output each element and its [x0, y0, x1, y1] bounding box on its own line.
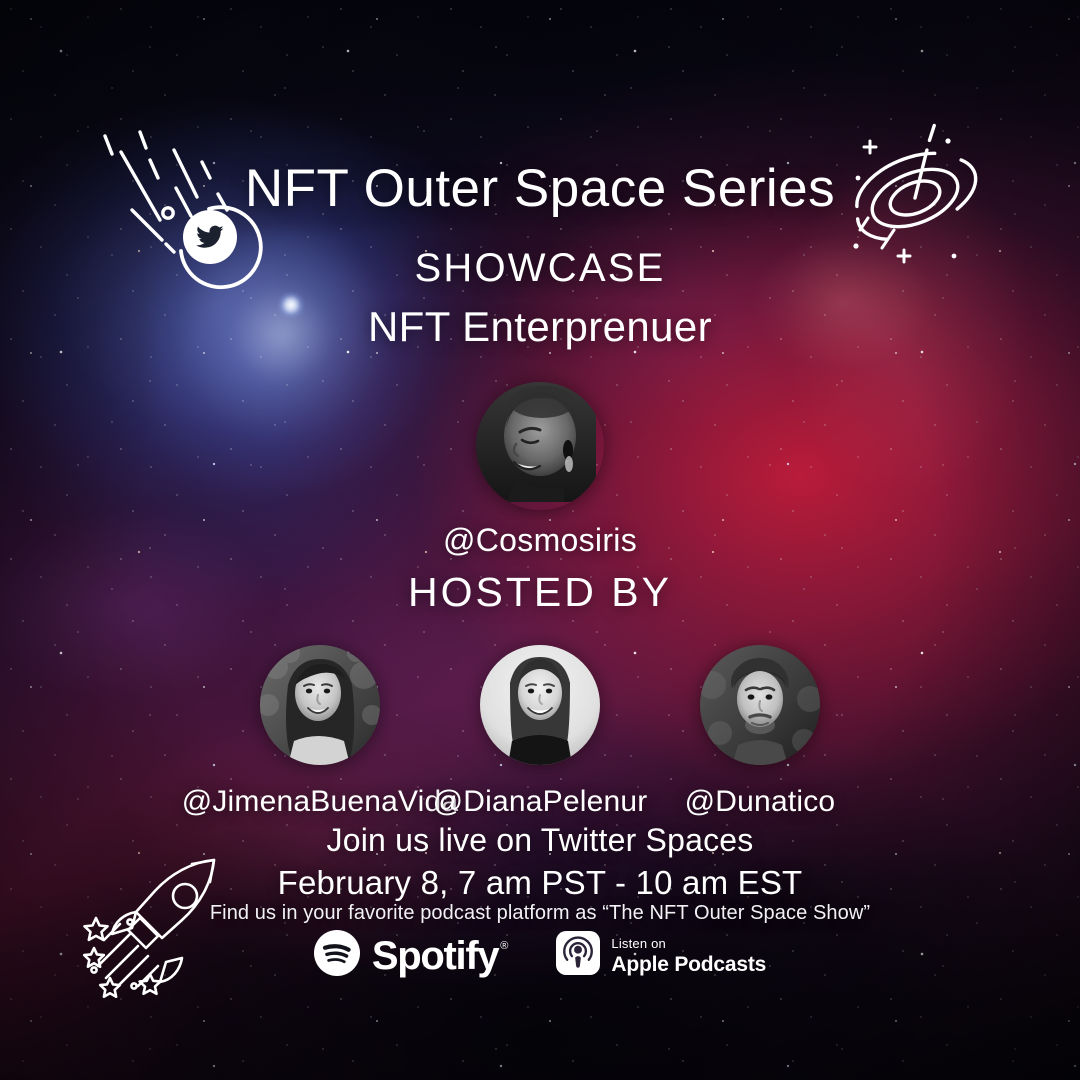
apple-listen-on-label: Listen on — [611, 937, 766, 950]
join-info-line: Join us live on Twitter Spaces — [0, 822, 1080, 859]
spotify-icon — [314, 930, 360, 981]
guest-block: @Cosmosiris — [0, 382, 1080, 559]
spotify-badge[interactable]: Spotify ® — [314, 930, 509, 981]
apple-podcasts-icon — [556, 931, 600, 980]
host-handle: @DianaPelenur — [433, 785, 648, 819]
platform-logos-row: Spotify ® Li — [0, 930, 1080, 981]
hosts-row: @JimenaBuenaVida — [0, 645, 1080, 819]
page-title: NFT Outer Space Series — [0, 158, 1080, 219]
guest-handle: @Cosmosiris — [443, 522, 637, 559]
host-item: @Dunatico — [650, 645, 870, 819]
guest-avatar-cosmosiris — [476, 382, 604, 510]
hosted-by-label: HOSTED BY — [0, 569, 1080, 616]
spotify-trademark-symbol: ® — [500, 940, 508, 952]
host-item: @JimenaBuenaVida — [210, 645, 430, 819]
apple-podcasts-badge[interactable]: Listen on Apple Podcasts — [556, 931, 766, 980]
apple-podcasts-text: Listen on Apple Podcasts — [611, 937, 766, 975]
spotify-wordmark: Spotify — [372, 936, 498, 976]
date-time-line: February 8, 7 am PST - 10 am EST — [0, 864, 1080, 902]
host-avatar-dianapelenur — [480, 645, 600, 765]
host-item: @DianaPelenur — [430, 645, 650, 819]
poster-canvas: NFT Outer Space Series SHOWCASE NFT Ente… — [0, 0, 1080, 1080]
host-handle: @Dunatico — [685, 785, 836, 819]
subtitle-topic: NFT Enterprenuer — [0, 303, 1080, 351]
host-avatar-jimenabuenavida — [260, 645, 380, 765]
host-avatar-dunatico — [700, 645, 820, 765]
subtitle-showcase: SHOWCASE — [0, 246, 1080, 291]
podcast-platform-line: Find us in your favorite podcast platfor… — [0, 902, 1080, 925]
host-handle: @JimenaBuenaVida — [182, 785, 459, 819]
poster-content: NFT Outer Space Series SHOWCASE NFT Ente… — [0, 0, 1080, 1080]
apple-podcasts-wordmark: Apple Podcasts — [611, 954, 766, 975]
